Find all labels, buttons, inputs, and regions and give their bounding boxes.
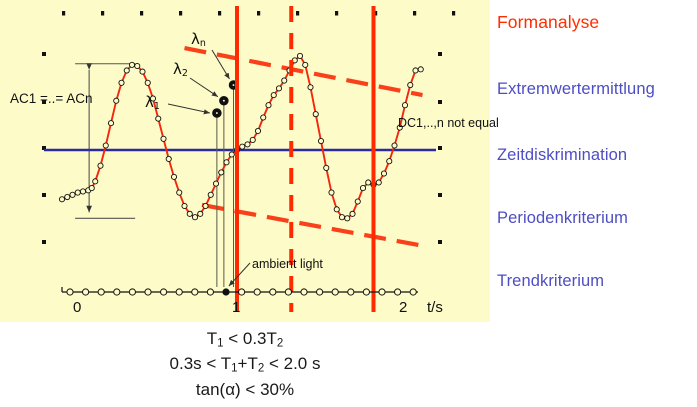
time-axis-marker [161,289,167,295]
sample-point [418,67,423,72]
sample-point [245,142,250,147]
sample-point [282,78,287,83]
plot-panel: AC1 =..= ACn DC1,..,n not equal ambient … [0,0,490,322]
x-tick-0: 0 [73,299,81,316]
sample-point [182,203,187,208]
frame-tick-top-7 [335,11,338,16]
sample-point [408,82,413,87]
lambda-2-sub: 2 [182,68,188,79]
sample-point [129,62,134,67]
time-axis-marker [363,289,369,295]
sample-point [114,98,119,103]
sample-point [297,53,302,58]
lambda-2-glyph: λ [173,60,182,78]
time-axis-marker-active [223,289,229,295]
time-axis-marker [145,289,151,295]
sample-point [350,211,355,216]
lambda-point-core-1 [222,99,225,102]
sample-point [75,190,80,195]
sample-point [98,163,103,168]
time-axis-marker [254,289,260,295]
sample-point [119,80,124,85]
frame-tick-right-4 [438,240,442,244]
sample-point [80,189,85,194]
time-axis-marker [410,289,416,295]
sample-point [198,211,203,216]
lambda-1-leader [168,104,210,113]
sample-point [303,62,308,67]
sample-point [240,144,245,149]
formula-line-2: tan(α) < 30% [196,378,294,401]
sample-point [229,152,234,157]
lambda-point-core-2 [232,84,235,87]
sample-point [89,185,94,190]
lambda-point-core-0 [215,112,218,115]
sample-point [308,85,313,90]
formula-line-1: 0.3s < T1+T2 < 2.0 s [170,352,321,377]
sample-point [376,180,381,185]
sample-point [108,121,113,126]
sample-point [135,63,140,68]
criteria-label-4: Trendkriterium [497,272,604,291]
frame-tick-right-0 [438,52,442,56]
time-axis-marker [192,289,198,295]
frame-tick-top-6 [296,11,299,16]
upper-trend-line [185,48,423,95]
sample-point [324,165,329,170]
sample-point [177,190,182,195]
frame-tick-top-1 [101,11,104,16]
sample-point [339,215,344,220]
sample-point [208,192,213,197]
sample-point [103,143,108,148]
lambda-n-label: λn [191,30,206,49]
criteria-label-3: Periodenkriterium [497,209,628,228]
sample-point [261,115,266,120]
frame-tick-right-2 [438,146,442,150]
x-axis-label: t/s [427,299,443,316]
sample-point [192,215,197,220]
sample-point [276,86,281,91]
lambda-1-glyph: λ [145,93,154,111]
sample-point [360,185,365,190]
frame-tick-left-4 [42,240,46,244]
criteria-formula-block: T1 < 0.3T20.3s < T1+T2 < 2.0 stan(α) < 3… [0,324,490,407]
time-axis-marker [379,289,385,295]
frame-tick-top-10 [452,11,455,16]
time-axis-marker [207,289,213,295]
frame-tick-left-0 [42,52,46,56]
time-axis-marker [67,289,73,295]
x-tick-2: 2 [399,299,407,316]
sample-point [59,197,64,202]
lambda-n-sub: n [200,38,206,49]
signal-sample-points [59,53,423,221]
frame-tick-right-1 [438,100,442,104]
lambda-2-leader [190,78,218,97]
sample-point [334,207,339,212]
time-axis-marker [98,289,104,295]
lambda-n-glyph: λ [191,30,200,48]
frame-tick-right-3 [438,193,442,197]
criteria-label-2: Zeitdiskrimination [497,146,627,165]
frame-tick-top-2 [140,11,143,16]
frame-tick-top-5 [257,11,260,16]
sample-point [355,199,360,204]
sample-point [366,180,371,185]
sample-point [313,112,318,117]
frame-tick-top-0 [62,11,65,16]
criteria-label-1: Extremwertermittlung [497,80,655,99]
sample-point [213,181,218,186]
time-axis-marker [83,289,89,295]
lambda-1-sub: 1 [154,101,160,112]
sample-point [381,171,386,176]
sample-point [203,203,208,208]
sample-point [93,179,98,184]
dc-not-equal-label: DC1,..,n not equal [398,116,499,130]
frame-tick-top-4 [218,11,221,16]
sample-point [224,160,229,165]
ambient-light-leader [229,263,250,286]
time-axis-marker [301,289,307,295]
lambda-2-label: λ2 [173,60,188,79]
amplitude-marker [75,64,135,219]
sample-point [271,93,276,98]
sample-point [318,138,323,143]
time-axis [62,287,418,295]
frame-tick-top-3 [179,11,182,16]
x-tick-1: 1 [232,299,240,316]
slide-root: AC1 =..= ACn DC1,..,n not equal ambient … [0,0,697,407]
sample-point [219,170,224,175]
sample-point [156,116,161,121]
sample-point [161,136,166,141]
time-axis-marker [395,289,401,295]
time-axis-marker [317,289,323,295]
signal-plot [0,0,490,322]
time-axis-marker [129,289,135,295]
sample-point [187,211,192,216]
sample-point [329,190,334,195]
sample-point [255,128,260,133]
sample-point [145,80,150,85]
formula-line-0: T1 < 0.3T2 [207,327,284,352]
sample-point [140,69,145,74]
time-axis-marker [348,289,354,295]
ac-equal-label: AC1 =..= ACn [10,91,93,106]
sample-point [166,156,171,161]
sample-point [266,103,271,108]
time-axis-marker [239,289,245,295]
sample-point [70,192,75,197]
sample-point [124,68,129,73]
time-axis-marker [176,289,182,295]
time-axis-marker [285,289,291,295]
signal-trace [62,56,421,218]
lambda-1-label: λ1 [145,93,160,112]
frame-tick-top-9 [413,11,416,16]
sample-point [392,143,397,148]
time-axis-marker [114,289,120,295]
criteria-label-0: Formanalyse [497,12,599,33]
time-axis-marker [332,289,338,295]
frame-tick-left-3 [42,193,46,197]
sample-point [402,103,407,108]
sample-point [345,216,350,221]
sample-point [65,194,70,199]
sample-point [413,68,418,73]
sample-point [250,137,255,142]
sample-point [171,174,176,179]
sample-point [387,159,392,164]
ambient-light-label: ambient light [252,257,323,271]
criteria-label-column: FormanalyseExtremwertermittlungZeitdiskr… [497,0,697,322]
time-axis-marker [270,289,276,295]
frame-tick-marks [42,11,455,244]
